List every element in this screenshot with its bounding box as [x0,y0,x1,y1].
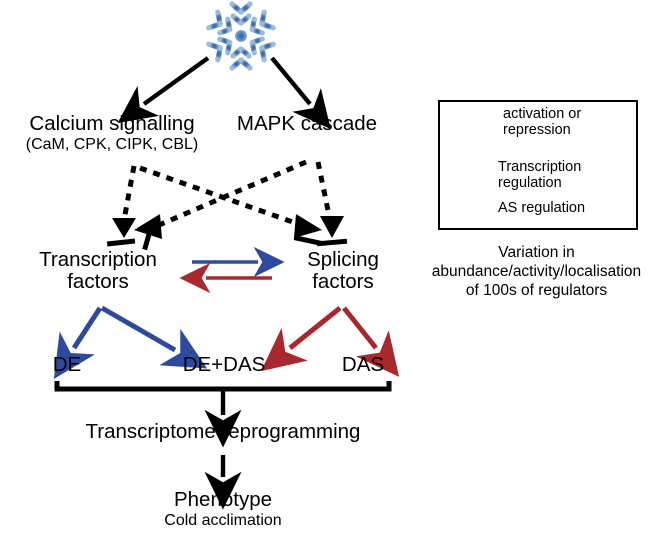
arrow-cold-to-calcium [144,58,208,104]
splicing-factors-line2: factors [278,271,408,293]
variation-note-line3: of 100s of regulators [422,282,651,301]
variation-note-line1: Variation in [422,244,651,263]
arrow-splicing-to-das [344,308,376,348]
arrow-splicing-to-de-das [290,308,340,348]
variation-note-line2: abundance/activity/localisation [422,263,651,282]
snowflake-icon [207,2,275,70]
node-mapk-cascade: MAPK cascade [222,113,392,135]
dashed-arrow-mapk-to-transcription [134,162,306,250]
variation-note: Variation in abundance/activity/localisa… [422,244,651,301]
dashed-arrow-calcium-to-transcription [107,166,136,246]
legend-label-activation-or-repression: activation or repression [503,106,581,138]
legend-item-transcription-regulation: Transcription regulation [498,159,632,191]
node-calcium-signalling: Calcium signalling (CaM, CPK, CIPK, CBL) [4,113,220,153]
legend-item-activation-or-repression: activation or repression [503,106,633,138]
dashed-arrow-calcium-to-splicing [140,168,322,246]
legend-label-transcription-regulation: Transcription regulation [498,159,581,191]
arrow-transcription-to-de-das [102,308,175,350]
calcium-label-line1: Calcium signalling [4,113,220,135]
arrow-cold-to-mapk [272,58,310,104]
splicing-factors-line1: Splicing [278,249,408,271]
transcription-factors-line2: factors [8,271,188,293]
phenotype-line2: Cold acclimation [143,512,303,529]
calcium-label-line2: (CaM, CPK, CIPK, CBL) [4,136,220,153]
mapk-label-line1: MAPK cascade [222,113,392,135]
figure-canvas: Calcium signalling (CaM, CPK, CIPK, CBL)… [0,0,651,549]
transcription-factors-line1: Transcription [8,249,188,271]
node-de: DE [34,354,100,376]
node-de-das: DE+DAS [164,354,284,376]
phenotype-line1: Phenotype [143,489,303,511]
node-transcription-factors: Transcription factors [8,249,188,293]
legend-item-as-regulation: AS regulation [498,200,632,216]
node-das: DAS [325,354,401,376]
outcome-bracket [57,381,389,389]
legend-label-as-regulation: AS regulation [498,200,585,216]
node-phenotype: Phenotype Cold acclimation [143,489,303,529]
arrow-transcription-to-de [74,308,100,348]
dashed-arrow-mapk-to-splicing [317,162,347,246]
node-splicing-factors: Splicing factors [278,249,408,293]
node-transcriptome-reprogramming: Transcriptome reprogramming [53,421,393,443]
